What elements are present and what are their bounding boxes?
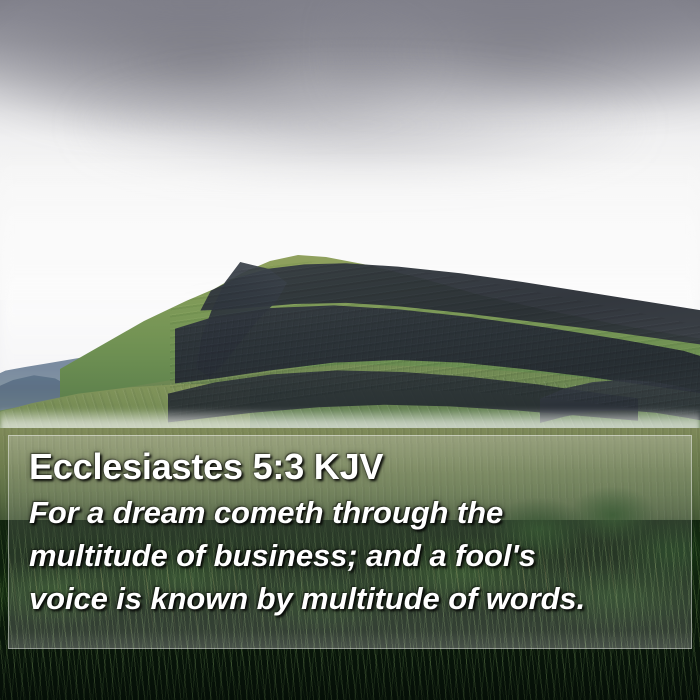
verse-text-line-2: multitude of business; and a fool's xyxy=(29,534,673,577)
verse-overlay-panel: Ecclesiastes 5:3 KJV For a dream cometh … xyxy=(8,435,692,649)
verse-image-canvas: Ecclesiastes 5:3 KJV For a dream cometh … xyxy=(0,0,700,700)
verse-text-block: For a dream cometh through the multitude… xyxy=(29,491,673,620)
verse-reference-title: Ecclesiastes 5:3 KJV xyxy=(29,446,673,488)
verse-text-line-1: For a dream cometh through the xyxy=(29,491,673,534)
verse-text-line-3: voice is known by multitude of words. xyxy=(29,577,673,620)
